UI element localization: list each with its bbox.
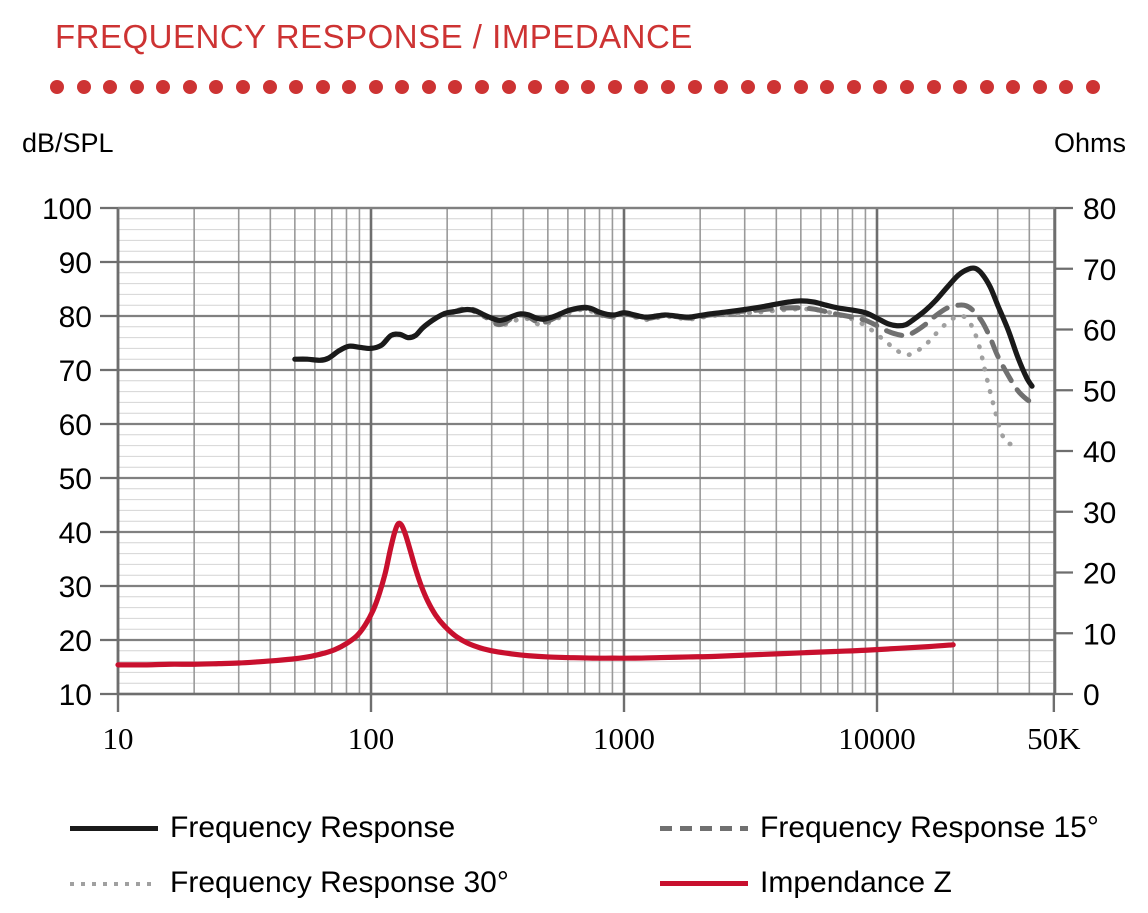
left-axis-tick-label: 100 [42,193,92,226]
series-line-impendance-z [118,523,953,665]
left-axis-tick-label: 10 [59,679,92,712]
legend-swatch-dashed-gray [660,826,748,831]
legend-item-frequency-response-30[interactable]: Frequency Response 30° [70,855,660,910]
legend-swatch-solid-black [70,826,158,831]
left-axis-tick-label: 30 [59,571,92,604]
right-axis-tick-label: 80 [1083,193,1116,226]
right-axis-tick-label: 40 [1083,436,1116,469]
right-axis-tick-label: 10 [1083,618,1116,651]
right-axis-tick-label: 60 [1083,315,1116,348]
data-series-lines [118,268,1032,665]
left-axis-tick-label: 90 [59,247,92,280]
left-axis-tick-label: 50 [59,463,92,496]
legend-label: Impendance Z [760,868,952,898]
legend-swatch-dotted-gray [70,882,158,886]
chart-plot-area: 1009080706050403020108070605040302010010… [0,0,1148,913]
x-axis-tick-label: 100 [348,721,395,756]
left-axis-tick-label: 80 [59,301,92,334]
plot-frame [118,208,1055,694]
x-axis-tick-label: 50K [1027,721,1081,756]
right-axis-tick-label: 20 [1083,558,1116,591]
right-axis-tick-label: 30 [1083,497,1116,530]
legend-label: Frequency Response [170,813,455,843]
legend-label: Frequency Response 30° [170,868,509,898]
legend-item-frequency-response[interactable]: Frequency Response [70,800,660,855]
right-axis-tick-label: 0 [1083,679,1100,712]
legend-label: Frequency Response 15° [760,813,1099,843]
legend-item-frequency-response-15[interactable]: Frequency Response 15° [660,800,1130,855]
left-axis-tick-label: 20 [59,625,92,658]
left-axis-tick-label: 40 [59,517,92,550]
chart-svg: 1009080706050403020108070605040302010010… [0,0,1148,790]
legend-row-2: Frequency Response 30° Impendance Z [70,855,1130,910]
right-axis-tick-label: 70 [1083,254,1116,287]
right-axis-tick-label: 50 [1083,375,1116,408]
x-axis-tick-label: 10 [103,721,134,756]
major-gridlines [118,208,1055,694]
x-axis-tick-label: 10000 [838,721,916,756]
left-axis-tick-label: 70 [59,355,92,388]
left-axis-tick-label: 60 [59,409,92,442]
legend-row-1: Frequency Response Frequency Response 15… [70,800,1130,855]
chart-legend: Frequency Response Frequency Response 15… [70,800,1130,910]
minor-gridlines [118,208,1055,694]
legend-item-impedance-z[interactable]: Impendance Z [660,855,1130,910]
legend-swatch-solid-red [660,881,748,886]
x-axis-tick-label: 1000 [593,721,655,756]
